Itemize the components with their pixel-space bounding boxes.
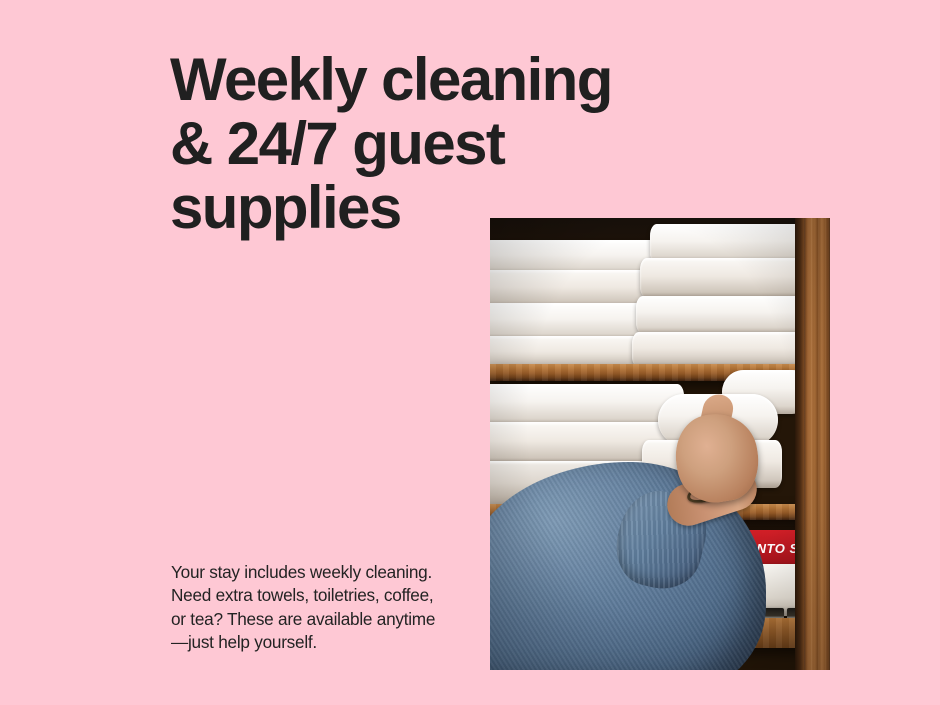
folded-towel <box>640 258 810 298</box>
cabinet-frame-post <box>804 218 830 670</box>
linen-closet-photo: PRONTO SC <box>490 218 830 670</box>
folded-towel <box>490 384 684 426</box>
photo-scene: PRONTO SC <box>490 218 830 670</box>
folded-towel <box>632 332 810 368</box>
page-title: Weekly cleaning & 24/7 guest supplies <box>170 48 730 240</box>
body-description: Your stay includes weekly cleaning. Need… <box>171 561 481 655</box>
folded-towel <box>636 296 810 334</box>
promo-poster: Weekly cleaning & 24/7 guest supplies Yo… <box>0 0 940 705</box>
cabinet-frame-edge <box>795 218 804 670</box>
